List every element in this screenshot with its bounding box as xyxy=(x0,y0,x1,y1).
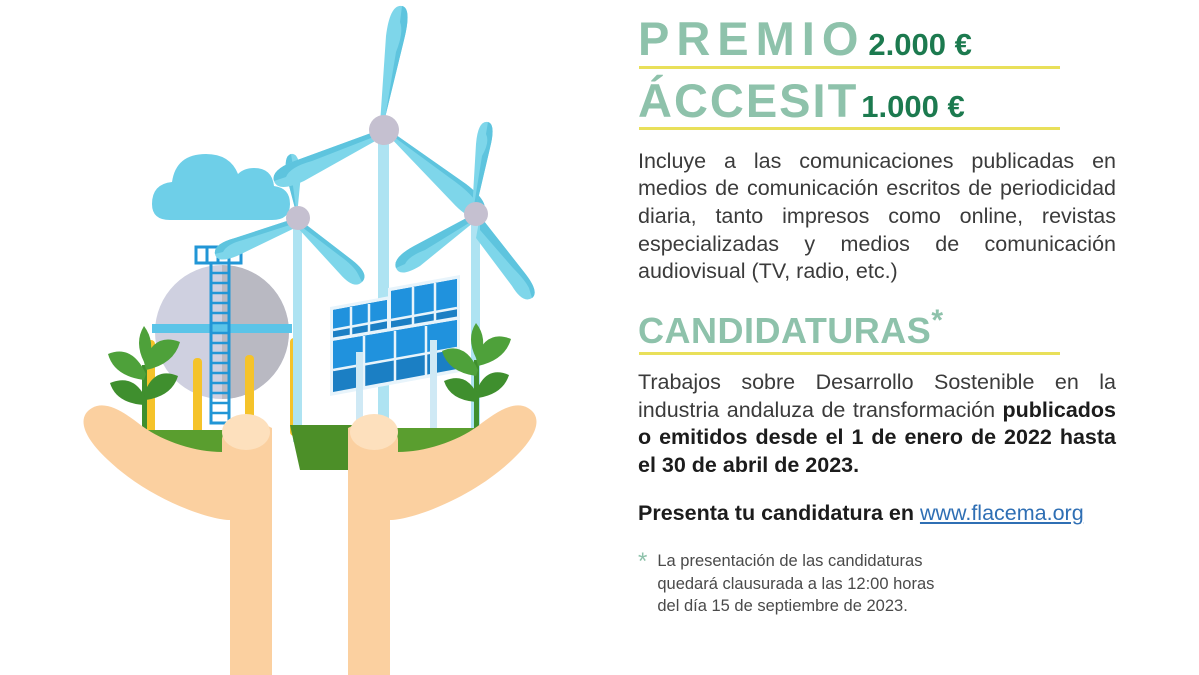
cloud-icon xyxy=(152,154,290,220)
prize-row-accesit: ÁCCESIT 1.000 € xyxy=(638,76,1159,126)
footnote-text: La presentación de las candidaturas qued… xyxy=(657,550,934,617)
poster: PREMIO 2.000 € ÁCCESIT 1.000 € Incluye a… xyxy=(0,0,1199,675)
prize-row-premio: PREMIO 2.000 € xyxy=(638,14,1159,64)
cta-text: Presenta tu candidatura en xyxy=(638,501,920,525)
content-panel: PREMIO 2.000 € ÁCCESIT 1.000 € Incluye a… xyxy=(620,0,1199,675)
footnote-asterisk-icon: * xyxy=(638,550,647,617)
footnote: * La presentación de las candidaturas qu… xyxy=(638,550,1038,617)
candidaturas-paragraph: Trabajos sobre Desarrollo Sostenible en … xyxy=(638,369,1116,480)
footnote-line-3: del día 15 de septiembre de 2023. xyxy=(657,597,907,615)
intro-paragraph: Incluye a las comunicaciones publicadas … xyxy=(638,148,1116,286)
prize-label-accesit: ÁCCESIT xyxy=(638,76,858,126)
asterisk-marker-icon: * xyxy=(931,304,943,337)
prize-amount-accesit: 1.000 € xyxy=(861,91,964,122)
footnote-line-2: quedará clausurada a las 12:00 horas xyxy=(657,575,934,593)
prize-amount-premio: 2.000 € xyxy=(868,29,971,60)
cta-line: Presenta tu candidatura en www.flacema.o… xyxy=(638,501,1159,526)
prize-label-premio: PREMIO xyxy=(638,14,865,64)
sustainable-energy-illustration xyxy=(0,0,620,675)
section-heading-label: CANDIDATURAS xyxy=(638,310,931,351)
flacema-website-link[interactable]: www.flacema.org xyxy=(920,501,1084,525)
footnote-line-1: La presentación de las candidaturas xyxy=(657,552,922,570)
section-heading-candidaturas: CANDIDATURAS* xyxy=(638,312,1159,350)
illustration-panel xyxy=(0,0,620,675)
